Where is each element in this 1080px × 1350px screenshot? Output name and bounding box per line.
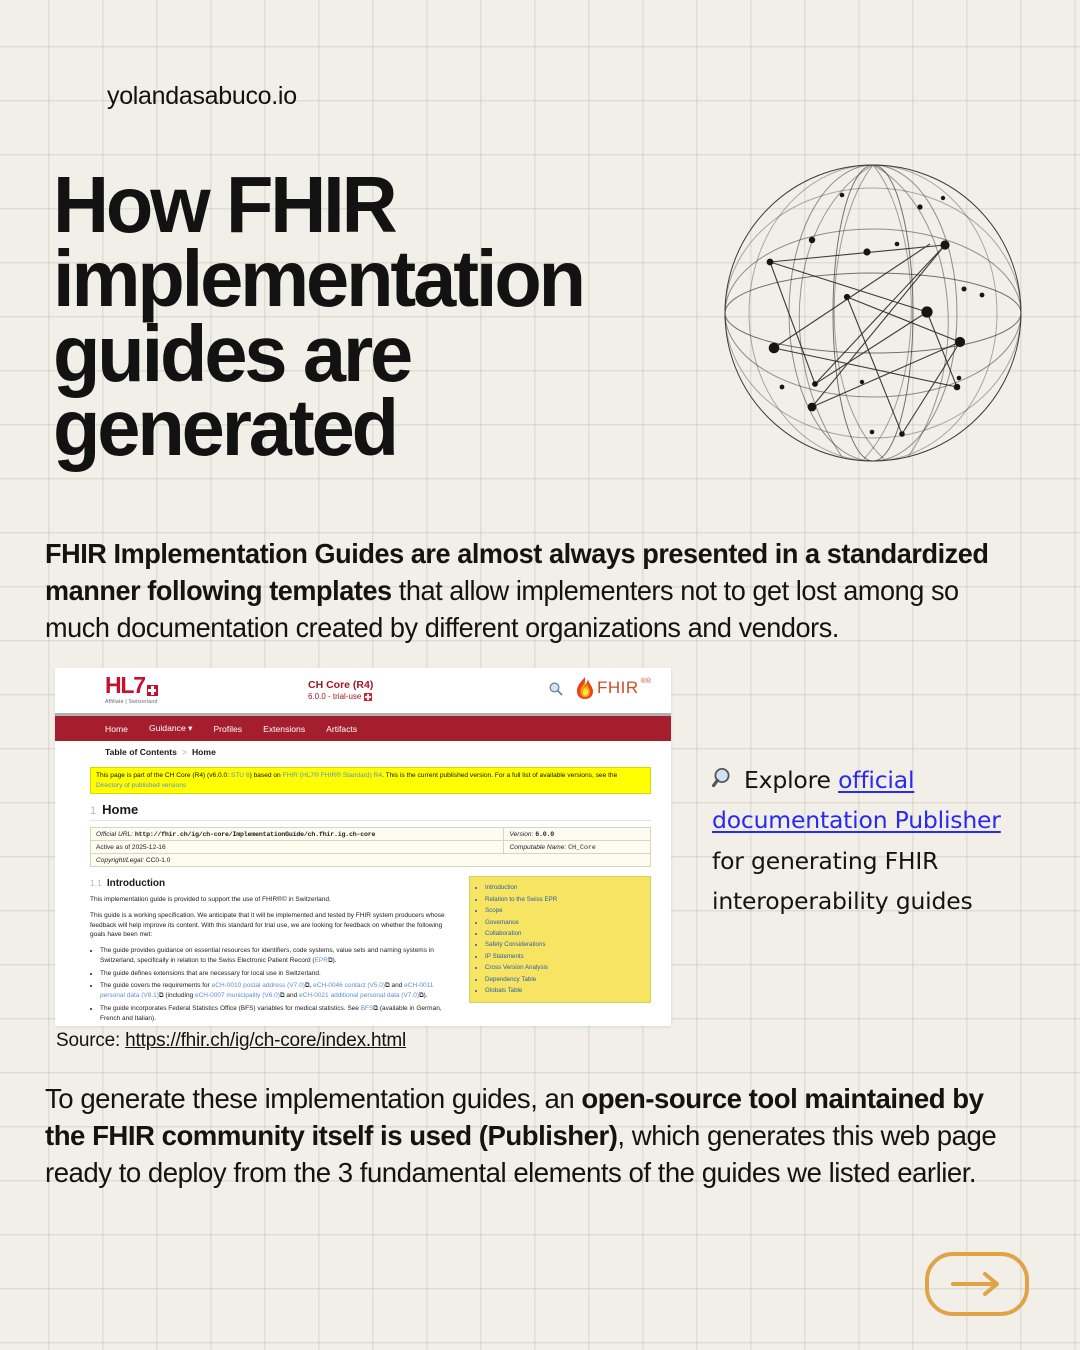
notice-link-fhir[interactable]: FHIR (HL7® FHIR® Standard) R4 (283, 772, 383, 779)
epr-link[interactable]: EPR (315, 957, 328, 964)
goal-2-text: The guide defines extensions that are ne… (100, 970, 321, 977)
breadcrumb-separator: > (182, 747, 187, 757)
swiss-cross-icon (147, 685, 158, 696)
magnifier-icon (712, 766, 738, 792)
page-title: How FHIR implementation guides are gener… (53, 168, 713, 466)
ech-0007-link[interactable]: eCH-0007 municipality (V6.0) (195, 992, 280, 999)
notice-text-3: . This is the current published version.… (382, 772, 617, 779)
list-item: Scope (485, 905, 644, 916)
page-heading-home: 1 Home (90, 802, 671, 817)
table-row: Copyright/Legal: CC0-1.0 (91, 854, 650, 867)
list-item: The guide defines extensions that are ne… (100, 969, 459, 979)
heading-number: 1 (90, 805, 96, 817)
list-item: The guide provides guidance on essential… (100, 946, 459, 966)
goals-list: The guide provides guidance on essential… (90, 946, 459, 1026)
list-item: Cross Version Analysis (485, 962, 644, 973)
nav-item-artifacts[interactable]: Artifacts (326, 724, 357, 734)
version-notice-banner: This page is part of the CH Core (R4) (v… (90, 767, 651, 794)
source-label: Source: (56, 1030, 125, 1051)
version-value: 6.0.0 (535, 831, 554, 838)
breadcrumb-root[interactable]: Table of Contents (105, 747, 177, 757)
ig-title-block: CH Core (R4) 6.0.0 - trial-use (308, 679, 373, 703)
active-as-of: Active as of 2025-12-16 (96, 844, 166, 851)
copyright-label: Copyright/Legal: (96, 857, 144, 864)
network-globe-icon (712, 152, 1034, 474)
notice-link-directory[interactable]: Directory of published versions (96, 782, 186, 789)
fhir-logo: FHIR ®® (575, 676, 651, 700)
intro-heading: 1.1 Introduction (90, 876, 459, 891)
list-item: IP Statements (485, 951, 644, 962)
intro-paragraph-2: This guide is a working specification. W… (90, 911, 459, 940)
fhir-registered-marks: ®® (641, 678, 651, 685)
goal-3-end: ). (424, 992, 428, 999)
ig-header: HL7 Affiliate | Switzerland CH Core (R4)… (55, 668, 671, 716)
goal-1-end: ). (333, 957, 337, 964)
hl7-logo: HL7 Affiliate | Switzerland (105, 674, 158, 705)
closing-paragraph: To generate these implementation guides,… (45, 1080, 1025, 1192)
toc-list: Introduction Relation to the Swiss EPR S… (476, 882, 644, 997)
search-icon[interactable] (548, 681, 564, 697)
title-line-3: guides are (53, 317, 713, 391)
flame-icon (575, 676, 595, 700)
ig-metadata-table: Official URL: http://fhir.ch/ig/ch-core/… (90, 827, 651, 867)
list-item: Collaboration (485, 928, 644, 939)
official-url-value: http://fhir.ch/ig/ch-core/Implementation… (135, 831, 375, 838)
anno-link-line1[interactable]: official (838, 766, 914, 794)
nav-item-extensions[interactable]: Extensions (263, 724, 305, 734)
swiss-cross-small-icon (364, 693, 372, 701)
arrow-right-icon (950, 1271, 1004, 1297)
ech-0046-link[interactable]: eCH-0046 contact (V5.0) (313, 982, 385, 989)
breadcrumb-current: Home (192, 747, 216, 757)
ig-body: 1.1 Introduction This implementation gui… (90, 876, 651, 1026)
ig-version: 6.0.0 - trial-use (308, 692, 361, 702)
ig-navbar: Home Guidance ▾ Profiles Extensions Arti… (55, 716, 671, 741)
goal-4-text: The guide incorporates Federal Statistic… (100, 1005, 361, 1012)
notice-text-2: ) based on (250, 772, 283, 779)
list-item: Governance (485, 917, 644, 928)
title-line-4: generated (53, 391, 713, 465)
hl7-wordmark: HL7 (105, 674, 145, 697)
goal-3-text: The guide covers the requirements for (100, 982, 212, 989)
source-caption: Source: https://fhir.ch/ig/ch-core/index… (56, 1030, 406, 1052)
embedded-ig-screenshot: HL7 Affiliate | Switzerland CH Core (R4)… (55, 668, 671, 1026)
list-item: Safety Considerations (485, 939, 644, 950)
title-line-1: How FHIR (53, 168, 713, 242)
list-item: The guide incorporates Federal Statistic… (100, 1004, 459, 1024)
nav-item-home[interactable]: Home (105, 724, 128, 734)
title-line-2: implementation (53, 242, 713, 316)
computable-name-label: Computable Name: (509, 844, 566, 851)
anno-link-line2[interactable]: documentation Publisher (712, 806, 1001, 834)
handwritten-annotation: Explore official documentation Publisher… (712, 760, 1042, 922)
heading-divider (90, 820, 651, 821)
computable-name-value: CH_Core (568, 844, 596, 851)
post-canvas: yolandasabuco.io How FHIR implementation… (0, 0, 1080, 1350)
anno-line4: interoperability guides (712, 887, 973, 915)
closing-part-1: To generate these implementation guides,… (45, 1083, 581, 1114)
anno-pre: Explore (744, 766, 838, 794)
table-row: Official URL: http://fhir.ch/ig/ch-core/… (91, 828, 650, 841)
table-row: Active as of 2025-12-16 Computable Name:… (91, 841, 650, 854)
list-item: Globals Table (485, 985, 644, 996)
hl7-affiliate: Affiliate | Switzerland (105, 699, 158, 705)
ech-0021-link[interactable]: eCH-0021 additional personal data (V7.0) (299, 992, 419, 999)
list-item: Relation to the Swiss EPR (485, 894, 644, 905)
list-item: The guide covers the requirements for eC… (100, 981, 459, 1001)
goal-1-text: The guide provides guidance on essential… (100, 947, 434, 964)
nav-item-guidance[interactable]: Guidance ▾ (149, 723, 193, 734)
official-url-label: Official URL: (96, 831, 133, 838)
intro-paragraph-1: This implementation guide is provided to… (90, 895, 459, 905)
nav-item-profiles[interactable]: Profiles (213, 724, 242, 734)
next-slide-button[interactable] (925, 1252, 1029, 1316)
site-handle: yolandasabuco.io (107, 82, 297, 111)
intro-title: Introduction (107, 876, 165, 891)
notice-link-stu[interactable]: STU 6 (231, 772, 250, 779)
intro-number: 1.1 (90, 877, 102, 890)
version-label: Version: (509, 831, 533, 838)
copyright-value: CC0-1.0 (146, 857, 171, 864)
fhir-wordmark: FHIR (597, 678, 639, 698)
goal-3-sep3: (including (164, 992, 195, 999)
notice-text-1: This page is part of the CH Core (R4) (v… (96, 772, 231, 779)
ig-main-column: 1.1 Introduction This implementation gui… (90, 876, 459, 1026)
list-item: Introduction (485, 882, 644, 893)
anno-line3: for generating FHIR (712, 847, 938, 875)
list-item: Dependency Table (485, 974, 644, 985)
heading-text: Home (102, 802, 138, 817)
breadcrumb: Table of Contents > Home (55, 741, 671, 763)
lead-paragraph: FHIR Implementation Guides are almost al… (45, 535, 1020, 646)
page-toc-panel: Introduction Relation to the Swiss EPR S… (469, 876, 651, 1003)
bfs-link[interactable]: BFS (361, 1005, 374, 1012)
source-url[interactable]: https://fhir.ch/ig/ch-core/index.html (125, 1030, 406, 1051)
goal-3-sep4: and (285, 992, 299, 999)
ech-0010-link[interactable]: eCH-0010 postal address (V7.0) (212, 982, 305, 989)
ig-title: CH Core (R4) (308, 679, 373, 692)
goal-3-sep2: and (390, 982, 404, 989)
